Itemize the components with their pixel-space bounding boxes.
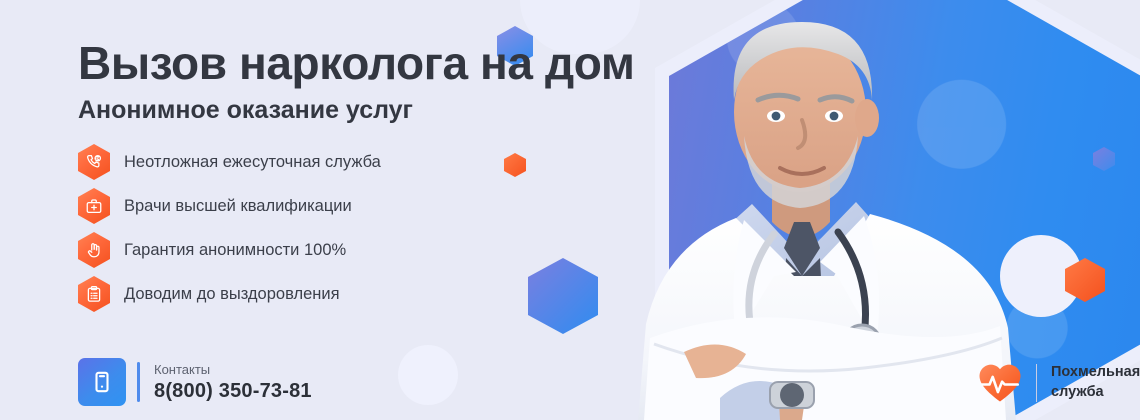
- contacts-block[interactable]: Контакты 8(800) 350-73-81: [78, 358, 312, 406]
- content-column: Вызов нарколога на дом Анонимное оказани…: [0, 0, 640, 420]
- brand-logo[interactable]: Похмельная служба: [978, 362, 1140, 404]
- clipboard-checklist-icon: [78, 276, 110, 312]
- list-item: Врачи высшей квалификации: [78, 184, 381, 228]
- list-item-label: Неотложная ежесуточная служба: [124, 153, 381, 172]
- divider: [1036, 364, 1037, 402]
- contacts-label: Контакты: [154, 362, 312, 377]
- hand-privacy-icon: [78, 232, 110, 268]
- list-item-label: Доводим до выздоровления: [124, 285, 340, 304]
- brand-name-line2: служба: [1051, 384, 1104, 400]
- mobile-phone-icon: [78, 358, 126, 406]
- phone-24h-icon: 24: [78, 144, 110, 180]
- list-item: Гарантия анонимности 100%: [78, 228, 381, 272]
- list-item: 24 Неотложная ежесуточная служба: [78, 140, 381, 184]
- contacts-phone[interactable]: 8(800) 350-73-81: [154, 380, 312, 403]
- feature-list: 24 Неотложная ежесуточная служба Врачи в…: [78, 140, 381, 316]
- list-item-label: Гарантия анонимности 100%: [124, 241, 346, 260]
- promo-banner: Вызов нарколога на дом Анонимное оказани…: [0, 0, 1140, 420]
- medical-bag-icon: [78, 188, 110, 224]
- page-subtitle: Анонимное оказание услуг: [78, 96, 413, 125]
- page-title: Вызов нарколога на дом: [78, 36, 635, 90]
- list-item-label: Врачи высшей квалификации: [124, 197, 352, 216]
- heart-pulse-icon: [978, 362, 1022, 404]
- brand-name-line1: Похмельная: [1051, 364, 1140, 380]
- doctor-photo: [624, 8, 1044, 420]
- list-item: Доводим до выздоровления: [78, 272, 381, 316]
- divider: [137, 362, 140, 402]
